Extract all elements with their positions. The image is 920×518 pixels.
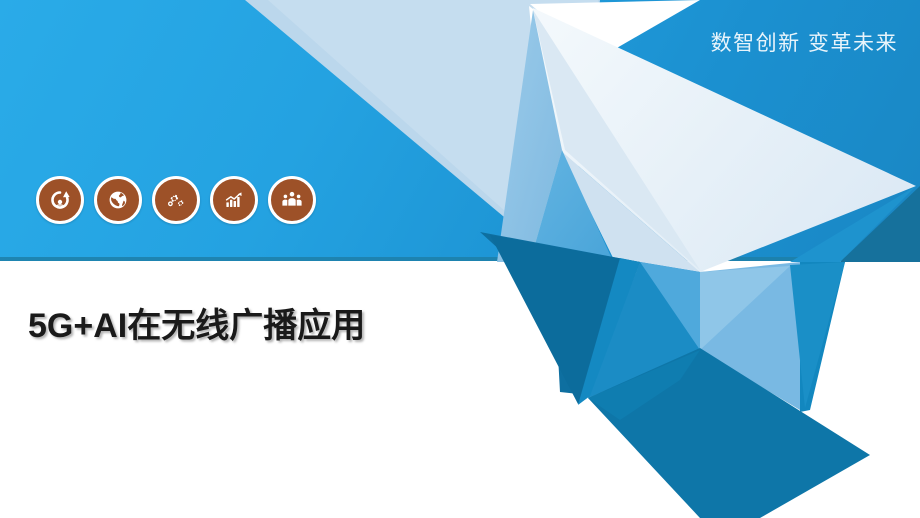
presentation-slide: 数智创新 变革未来: [0, 0, 920, 518]
globe-icon[interactable]: [94, 176, 142, 224]
bar-chart-growth-icon[interactable]: [210, 176, 258, 224]
gears-icon[interactable]: [152, 176, 200, 224]
icon-strip: [36, 176, 316, 224]
slide-tagline: 数智创新 变革未来: [711, 27, 898, 57]
slide-title: 5G+AI在无线广播应用: [28, 298, 365, 347]
polygon-background-artwork: [0, 0, 920, 518]
team-people-icon[interactable]: [268, 176, 316, 224]
refresh-cycle-icon[interactable]: [36, 176, 84, 224]
